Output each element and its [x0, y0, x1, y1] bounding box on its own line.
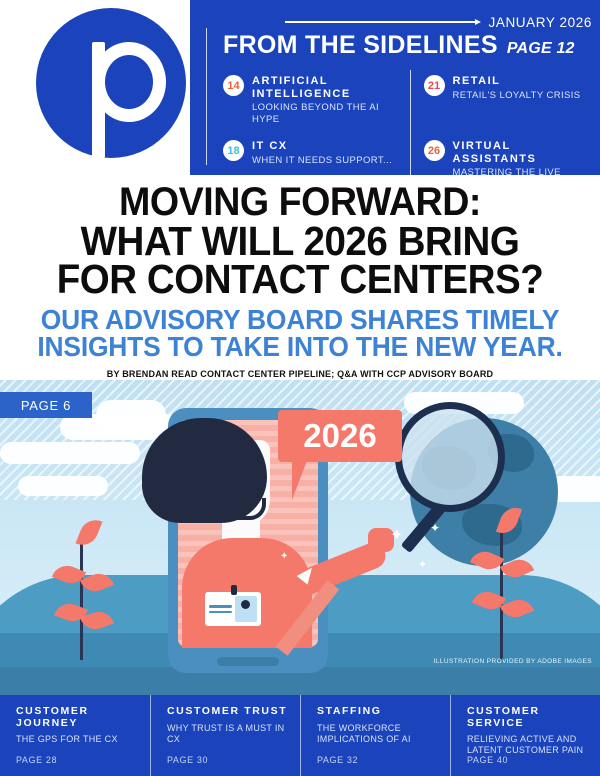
section-page-ref: PAGE 12: [507, 40, 575, 58]
id-badge-icon: [205, 592, 261, 626]
footer-column[interactable]: STAFFING THE WORKFORCE IMPLICATIONS OF A…: [300, 695, 450, 776]
footer-page-ref: PAGE 28: [16, 755, 57, 765]
article-item[interactable]: 21 RETAIL RETAIL'S LOYALTY CRISIS: [410, 74, 597, 125]
article-title: RETAIL: [453, 75, 581, 88]
section-title: FROM THE SIDELINES: [223, 31, 498, 60]
footer-column[interactable]: CUSTOMER TRUST WHY TRUST IS A MUST IN CX…: [150, 695, 300, 776]
badge-clip: [231, 585, 237, 595]
cover-story-block: MOVING FORWARD: WHAT WILL 2026 BRING FOR…: [0, 175, 600, 380]
page-badge: 14: [223, 75, 244, 96]
sparkle-icon: ✦: [280, 552, 288, 562]
badge-text-lines: [209, 596, 232, 622]
footer-title: CUSTOMER TRUST: [167, 706, 288, 718]
sparkle-icon: ✦: [390, 528, 403, 544]
page-badge: 18: [223, 140, 244, 161]
plant-right: [472, 520, 552, 660]
footer-subtitle: RELIEVING ACTIVE AND LATENT CUSTOMER PAI…: [467, 734, 588, 757]
plant-left: [52, 530, 132, 660]
arrow-right-icon: [475, 19, 481, 25]
footer-subtitle: THE WORKFORCE IMPLICATIONS OF AI: [317, 723, 438, 746]
cover-subhead: OUR ADVISORY BOARD SHARES TIMELY INSIGHT…: [12, 306, 588, 361]
logo-p-bowl: [92, 42, 166, 122]
article-text: ARTIFICIAL INTELLIGENCE LOOKING BEYOND T…: [252, 74, 404, 125]
cover-headline: MOVING FORWARD: WHAT WILL 2026 BRING FOR…: [18, 175, 582, 299]
illustration-credit: ILLUSTRATION PROVIDED BY ADOBE IMAGES: [434, 658, 592, 665]
badge-photo: [235, 596, 257, 622]
publication-logo: [36, 8, 186, 158]
headline-line-3: FOR CONTACT CENTERS?: [18, 260, 582, 299]
sidelines-panel: JANUARY 2026 FROM THE SIDELINES PAGE 12 …: [190, 0, 600, 175]
headline-line-2: WHAT WILL 2026 BRING: [18, 222, 582, 261]
article-text: RETAIL RETAIL'S LOYALTY CRISIS: [453, 74, 581, 101]
footer-page-ref: PAGE 30: [167, 755, 208, 765]
speech-bubble-tail: [292, 458, 308, 500]
section-title-row: FROM THE SIDELINES PAGE 12: [223, 31, 596, 60]
magnifying-glass-icon: [395, 402, 505, 512]
cover-byline: BY BRENDAN READ CONTACT CENTER PIPELINE;…: [0, 369, 600, 379]
footer-subtitle: WHY TRUST IS A MUST IN CX: [167, 723, 288, 746]
footer-column[interactable]: CUSTOMER SERVICE RELIEVING ACTIVE AND LA…: [450, 695, 600, 776]
cloud-shape: [0, 442, 140, 464]
article-subtitle: RETAIL'S LOYALTY CRISIS: [453, 90, 581, 101]
page-badge-number: 26: [428, 145, 440, 157]
footer-column[interactable]: CUSTOMER JOURNEY THE GPS FOR THE CX PAGE…: [0, 695, 150, 776]
page-badge-number: 18: [227, 145, 239, 157]
cloud-shape: [18, 476, 108, 496]
article-subtitle: LOOKING BEYOND THE AI HYPE: [252, 102, 404, 125]
sidelines-content: FROM THE SIDELINES PAGE 12 14 ARTIFICIAL…: [206, 28, 596, 165]
cloud-shape: [96, 400, 166, 430]
sparkle-icon: ✦: [430, 522, 440, 534]
footer-subtitle: THE GPS FOR THE CX: [16, 734, 138, 745]
subhead-line-1: OUR ADVISORY BOARD SHARES TIMELY: [12, 306, 588, 334]
page-badge-number: 14: [227, 80, 239, 92]
date-rule-line: [285, 21, 475, 23]
footer-title: STAFFING: [317, 706, 438, 718]
article-item[interactable]: 14 ARTIFICIAL INTELLIGENCE LOOKING BEYON…: [223, 74, 410, 125]
page-badge-number: 21: [428, 80, 440, 92]
page-badge: 21: [424, 75, 445, 96]
cover-illustration: PAGE 6 2026: [0, 380, 600, 695]
plant-stem: [80, 540, 83, 660]
headline-line-1: MOVING FORWARD:: [18, 184, 582, 222]
page-6-tab[interactable]: PAGE 6: [0, 392, 92, 418]
article-title: ARTIFICIAL INTELLIGENCE: [252, 75, 404, 100]
footer-page-ref: PAGE 32: [317, 755, 358, 765]
sparkle-icon: ✦: [418, 560, 427, 571]
page-6-label: PAGE 6: [21, 398, 71, 413]
subhead-line-2: INSIGHTS TO TAKE INTO THE NEW YEAR.: [12, 333, 588, 361]
article-title: VIRTUAL ASSISTANTS: [453, 140, 591, 165]
plant-leaf: [500, 555, 534, 583]
year-speech-bubble: 2026: [278, 410, 402, 462]
plant-leaf: [470, 547, 504, 575]
article-subtitle: WHEN IT NEEDS SUPPORT...: [252, 155, 392, 166]
cover-footer: CUSTOMER JOURNEY THE GPS FOR THE CX PAGE…: [0, 695, 600, 776]
cover-header: JANUARY 2026 FROM THE SIDELINES PAGE 12 …: [0, 0, 600, 175]
phone-home-bar: [217, 657, 279, 666]
year-label: 2026: [303, 417, 376, 455]
footer-page-ref: PAGE 40: [467, 755, 508, 765]
page-badge: 26: [424, 140, 445, 161]
footer-title: CUSTOMER SERVICE: [467, 706, 588, 729]
article-list: 14 ARTIFICIAL INTELLIGENCE LOOKING BEYON…: [223, 74, 596, 190]
footer-title: CUSTOMER JOURNEY: [16, 706, 138, 729]
article-title: IT CX: [252, 140, 392, 153]
article-text: IT CX WHEN IT NEEDS SUPPORT...: [252, 139, 392, 166]
